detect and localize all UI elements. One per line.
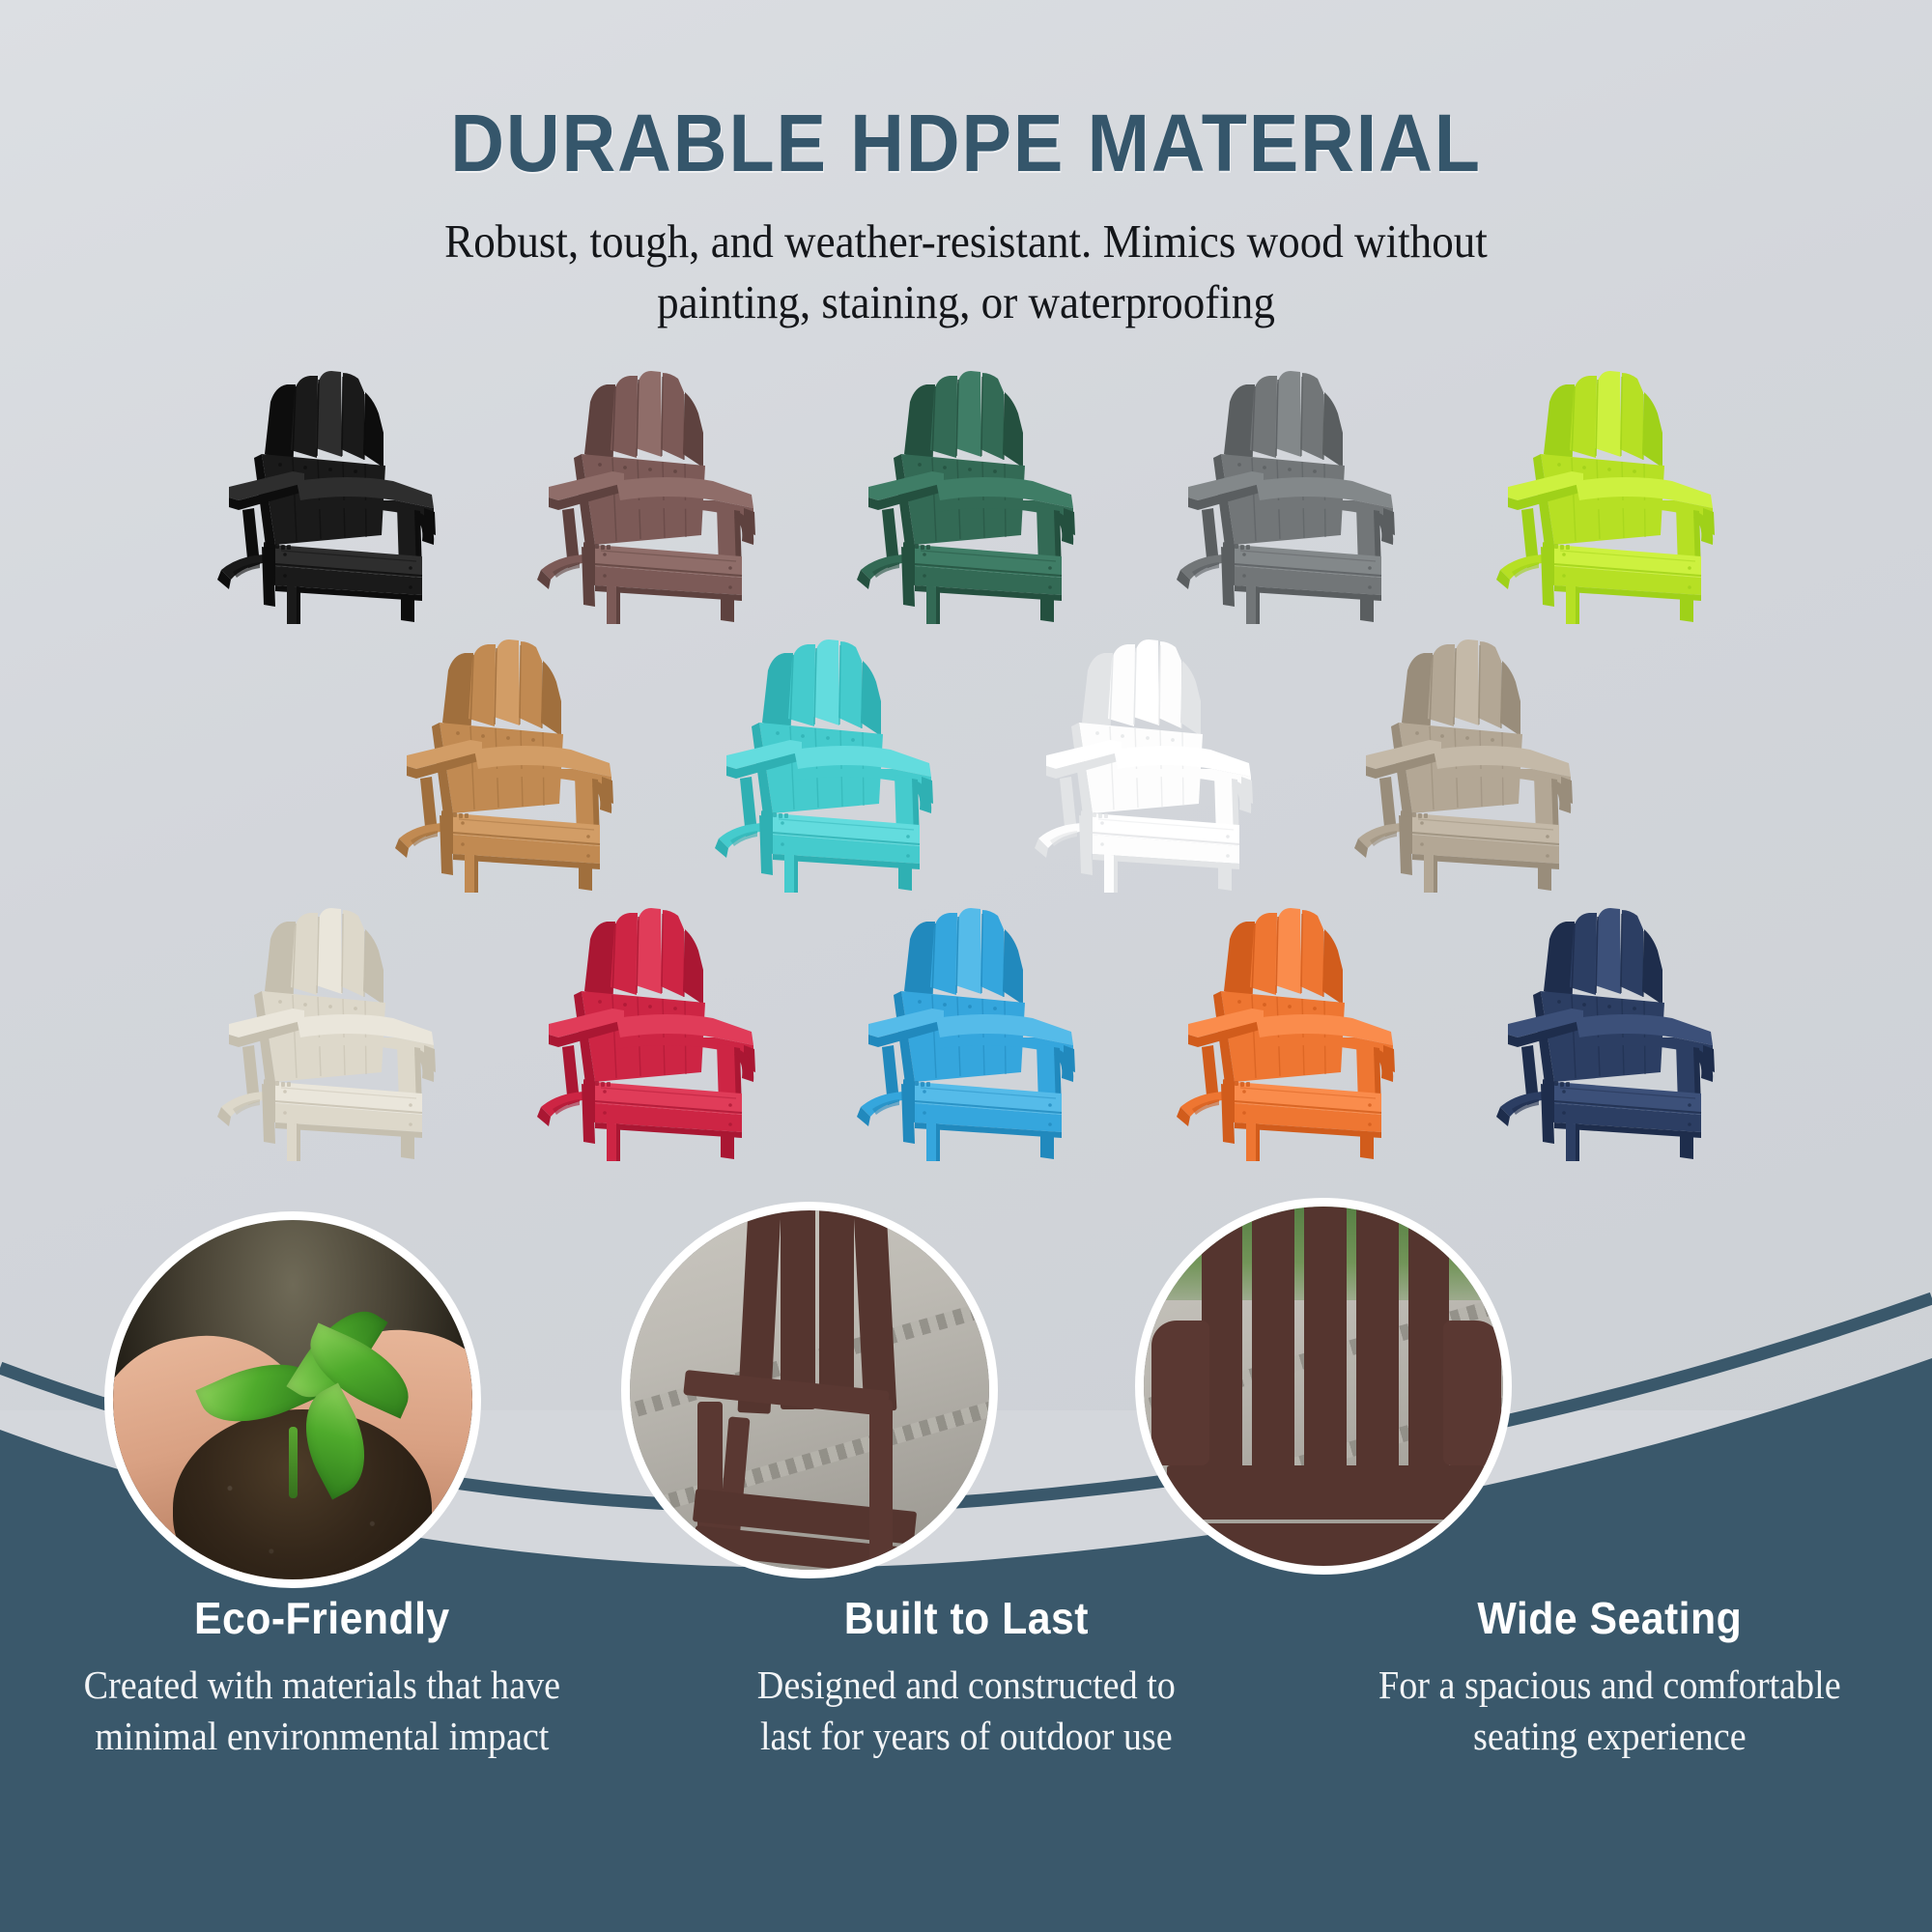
chair-row-3: [0, 902, 1932, 1165]
seedling-stem: [289, 1427, 298, 1498]
chair-swatch-dark-green[interactable]: [843, 365, 1090, 628]
feature-desc-line-2: seating experience: [1473, 1714, 1747, 1758]
feature-image-wide-seating: [1135, 1198, 1512, 1575]
feature-image-eco-friendly: [104, 1211, 481, 1588]
adirondack-chair-icon: [1483, 902, 1729, 1165]
feature-title: Built to Last: [686, 1592, 1245, 1644]
feature-desc-line-1: Created with materials that have: [84, 1662, 560, 1707]
feature-description: Designed and constructed to last for yea…: [686, 1660, 1245, 1763]
adirondack-chair-icon: [843, 365, 1090, 628]
adirondack-chair-icon: [382, 634, 628, 896]
chair-row-2: [0, 634, 1932, 896]
chair-swatch-navy-blue[interactable]: [1483, 902, 1729, 1165]
feature-image-row: [0, 1198, 1932, 1575]
chair-swatch-weathered-wood[interactable]: [1341, 634, 1587, 896]
feature-built-to-last: Built to Last Designed and constructed t…: [644, 1592, 1289, 1763]
adirondack-chair-icon: [204, 902, 450, 1165]
chair-swatch-white[interactable]: [1021, 634, 1267, 896]
infographic-canvas: DURABLE HDPE MATERIAL Robust, tough, and…: [0, 0, 1932, 1932]
chair-row-1: [0, 365, 1932, 628]
adirondack-chair-icon: [1021, 634, 1267, 896]
feature-desc-line-2: minimal environmental impact: [95, 1714, 549, 1758]
chair-swatch-lime-green[interactable]: [1483, 365, 1729, 628]
adirondack-chair-icon: [204, 365, 450, 628]
feature-text-row: Eco-Friendly Created with materials that…: [0, 1592, 1932, 1763]
feature-title: Wide Seating: [1330, 1592, 1889, 1644]
feature-description: Created with materials that have minimal…: [43, 1660, 602, 1763]
chair-swatch-teak[interactable]: [382, 634, 628, 896]
feature-eco-friendly: Eco-Friendly Created with materials that…: [0, 1592, 644, 1763]
subtitle-line-1: Robust, tough, and weather-resistant. Mi…: [335, 212, 1597, 272]
chair-swatch-black[interactable]: [204, 365, 450, 628]
adirondack-chair-icon: [1483, 365, 1729, 628]
adirondack-chair-icon: [701, 634, 948, 896]
page-subtitle: Robust, tough, and weather-resistant. Mi…: [335, 212, 1597, 332]
subtitle-line-2: painting, staining, or waterproofing: [335, 272, 1597, 333]
chair-color-grid: [0, 365, 1932, 1165]
chair-swatch-brown[interactable]: [524, 365, 770, 628]
chair-swatch-turquoise[interactable]: [701, 634, 948, 896]
feature-wide-seating: Wide Seating For a spacious and comforta…: [1288, 1592, 1932, 1763]
page-title: DURABLE HDPE MATERIAL: [77, 0, 1855, 190]
adirondack-chair-icon: [1163, 365, 1409, 628]
adirondack-chair-icon: [1163, 902, 1409, 1165]
feature-desc-line-1: Designed and constructed to: [756, 1662, 1175, 1707]
chair-swatch-orange[interactable]: [1163, 902, 1409, 1165]
adirondack-chair-icon: [1341, 634, 1587, 896]
feature-desc-line-1: For a spacious and comfortable: [1378, 1662, 1841, 1707]
feature-desc-line-2: last for years of outdoor use: [760, 1714, 1173, 1758]
header: DURABLE HDPE MATERIAL Robust, tough, and…: [0, 0, 1932, 332]
chair-swatch-ivory[interactable]: [204, 902, 450, 1165]
adirondack-chair-icon: [524, 902, 770, 1165]
adirondack-chair-icon: [843, 902, 1090, 1165]
chair-swatch-red[interactable]: [524, 902, 770, 1165]
chair-swatch-light-blue[interactable]: [843, 902, 1090, 1165]
feature-image-built-to-last: [621, 1202, 998, 1578]
chair-swatch-gray[interactable]: [1163, 365, 1409, 628]
adirondack-chair-icon: [524, 365, 770, 628]
feature-title: Eco-Friendly: [43, 1592, 602, 1644]
feature-description: For a spacious and comfortable seating e…: [1330, 1660, 1889, 1763]
